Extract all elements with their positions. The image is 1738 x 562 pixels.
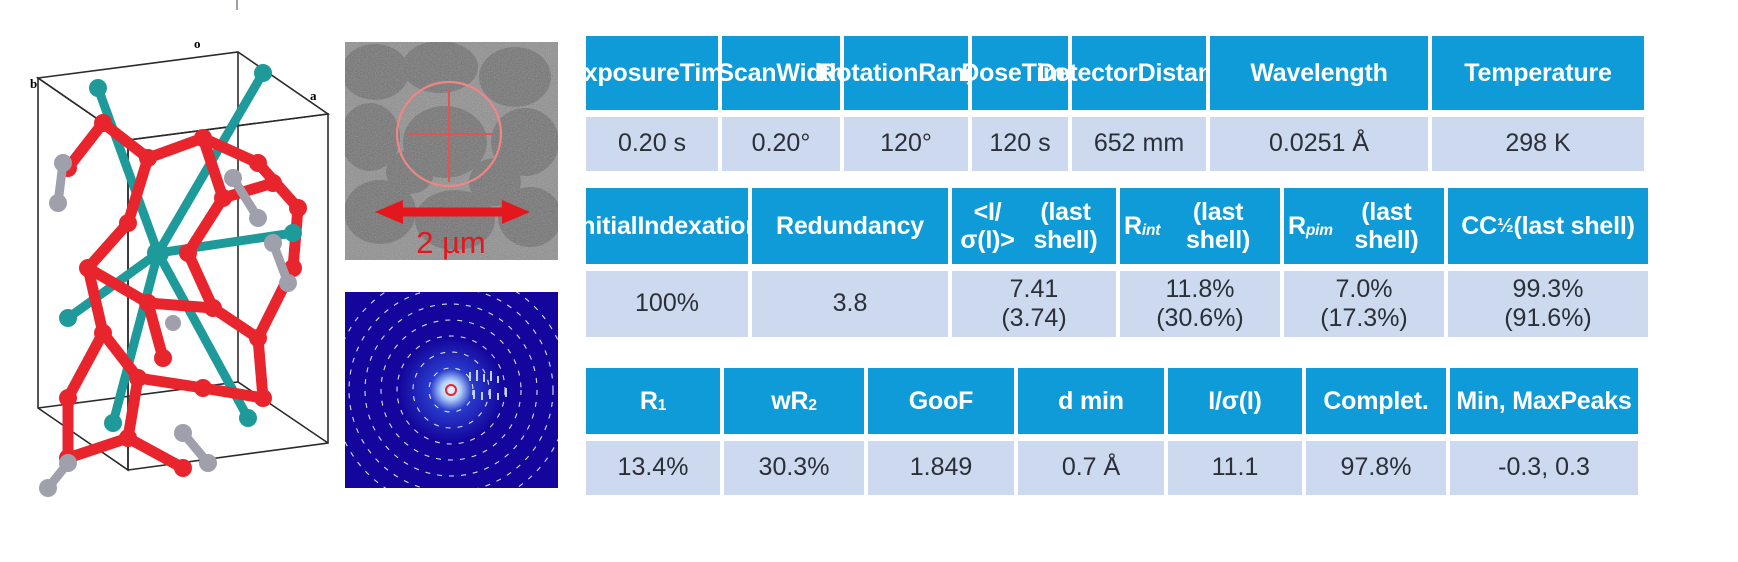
- column-header-min-max-peaks: Min, MaxPeaks: [1450, 368, 1638, 434]
- table-row: 13.4%30.3%1.8490.7 Å11.197.8%-0.3, 0.3: [586, 441, 1638, 495]
- cell-redundancy: 3.8: [752, 271, 948, 337]
- cell-min-max-peaks: -0.3, 0.3: [1450, 441, 1638, 495]
- cell-wavelength: 0.0251 Å: [1210, 117, 1428, 171]
- cell-value: 30.3%: [759, 453, 830, 483]
- column-header-goof: GooF: [868, 368, 1014, 434]
- column-header-wavelength: Wavelength: [1210, 36, 1428, 110]
- cell-cc-half-last-shell: 99.3%(91.6%): [1448, 271, 1648, 337]
- cell-subvalue: (17.3%): [1320, 304, 1408, 334]
- refinement-statistics-table: R1wR2GooFd minI/σ(I)Complet.Min, MaxPeak…: [586, 368, 1638, 495]
- cell-value: 97.8%: [1341, 453, 1412, 483]
- crystal-structure-figure: b o a: [8, 18, 348, 528]
- column-header-temperature: Temperature: [1432, 36, 1644, 110]
- scale-bar-label: 2 µm: [416, 225, 486, 260]
- table-row: 0.20 s0.20°120°120 s652 mm0.0251 Å298 K: [586, 117, 1644, 171]
- column-header-detector-distance: DetectorDistance: [1072, 36, 1206, 110]
- axis-label-b: b: [30, 76, 37, 91]
- cell-exposure-time: 0.20 s: [586, 117, 718, 171]
- column-header-initial-indexation: InitialIndexation: [586, 188, 748, 264]
- electron-diffraction-figure: [345, 292, 558, 488]
- cell-value: 0.0251 Å: [1269, 129, 1369, 159]
- table-row: 100%3.87.41(3.74)11.8%(30.6%)7.0%(17.3%)…: [586, 271, 1648, 337]
- cell-value: 99.3%: [1513, 275, 1584, 305]
- cell-value: 11.1: [1212, 453, 1259, 483]
- data-collection-parameters-table: ExposureTimeScanWidthRotationRangeDoseTi…: [586, 36, 1644, 171]
- cell-value: 3.8: [833, 289, 868, 319]
- cell-subvalue: (3.74): [1001, 304, 1066, 334]
- column-header-exposure-time: ExposureTime: [586, 36, 718, 110]
- cell-temperature: 298 K: [1432, 117, 1644, 171]
- cell-d-min: 0.7 Å: [1018, 441, 1164, 495]
- column-header-i-over-sigma: I/σ(I): [1168, 368, 1302, 434]
- cell-detector-distance: 652 mm: [1072, 117, 1206, 171]
- cell-i-over-sigma-last-shell: 7.41(3.74): [952, 271, 1116, 337]
- cell-i-over-sigma: 11.1: [1168, 441, 1302, 495]
- cell-rpim-last-shell: 7.0%(17.3%): [1284, 271, 1444, 337]
- table-row: R1wR2GooFd minI/σ(I)Complet.Min, MaxPeak…: [586, 368, 1638, 434]
- cell-value: 7.41: [1010, 275, 1059, 305]
- column-header-rotation-range: RotationRange: [844, 36, 968, 110]
- axis-label-o: o: [194, 36, 201, 51]
- cell-scan-width: 0.20°: [722, 117, 840, 171]
- cell-value: 7.0%: [1336, 275, 1393, 305]
- cell-value: -0.3, 0.3: [1498, 453, 1590, 483]
- column-header-cc-half-last-shell: CC½(last shell): [1448, 188, 1648, 264]
- cell-initial-indexation: 100%: [586, 271, 748, 337]
- column-header-wr2: wR2: [724, 368, 864, 434]
- column-header-r1: R1: [586, 368, 720, 434]
- cell-rotation-range: 120°: [844, 117, 968, 171]
- column-header-rint-last-shell: Rint(last shell): [1120, 188, 1280, 264]
- table-row: ExposureTimeScanWidthRotationRangeDoseTi…: [586, 36, 1644, 110]
- cell-value: 1.849: [910, 453, 973, 483]
- cell-value: 0.20°: [752, 129, 811, 159]
- cell-value: 0.7 Å: [1062, 453, 1120, 483]
- column-header-d-min: d min: [1018, 368, 1164, 434]
- cell-value: 120 s: [989, 129, 1050, 159]
- cell-goof: 1.849: [868, 441, 1014, 495]
- cell-dose-time: 120 s: [972, 117, 1068, 171]
- cell-value: 298 K: [1505, 129, 1570, 159]
- column-header-i-over-sigma-last-shell: <I/σ(I)>(last shell): [952, 188, 1116, 264]
- table-row: InitialIndexationRedundancy<I/σ(I)>(last…: [586, 188, 1648, 264]
- cell-wr2: 30.3%: [724, 441, 864, 495]
- axis-label-a: a: [310, 88, 317, 103]
- cell-subvalue: (30.6%): [1156, 304, 1244, 334]
- column-header-completeness: Complet.: [1306, 368, 1446, 434]
- cell-value: 100%: [635, 289, 699, 319]
- figure-panel: b o a: [0, 0, 575, 562]
- data-quality-statistics-table: InitialIndexationRedundancy<I/σ(I)>(last…: [586, 188, 1648, 337]
- cell-r1: 13.4%: [586, 441, 720, 495]
- cell-value: 13.4%: [618, 453, 689, 483]
- sem-micrograph-figure: 2 µm: [345, 42, 558, 260]
- cell-value: 652 mm: [1094, 129, 1184, 159]
- cell-rint-last-shell: 11.8%(30.6%): [1120, 271, 1280, 337]
- cell-subvalue: (91.6%): [1504, 304, 1592, 334]
- cell-value: 120°: [880, 129, 932, 159]
- column-header-redundancy: Redundancy: [752, 188, 948, 264]
- column-header-rpim-last-shell: Rpim(last shell): [1284, 188, 1444, 264]
- cell-value: 11.8%: [1165, 275, 1234, 305]
- cell-value: 0.20 s: [618, 129, 686, 159]
- cell-completeness: 97.8%: [1306, 441, 1446, 495]
